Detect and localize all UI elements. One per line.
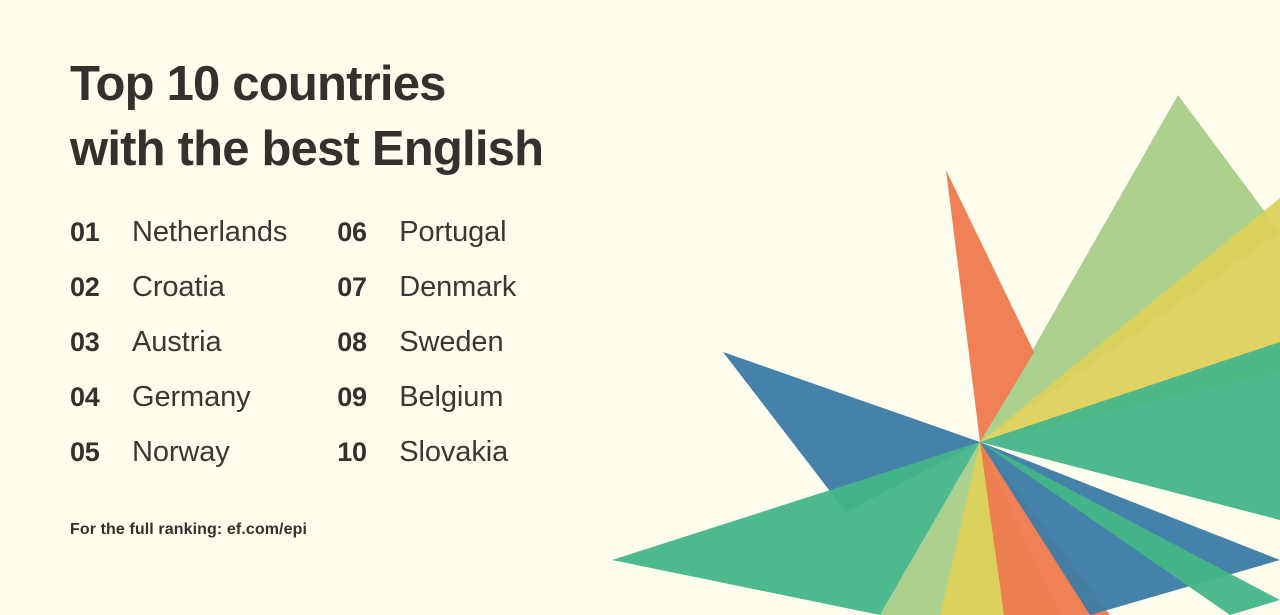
country-name: Norway	[132, 436, 230, 469]
infographic-canvas: Top 10 countries with the best English 0…	[0, 0, 1280, 615]
ranking-row: 05Norway	[70, 436, 287, 491]
rank-number: 10	[337, 437, 399, 468]
country-name: Slovakia	[399, 436, 508, 469]
rank-number: 08	[337, 327, 399, 358]
ranking-row: 07Denmark	[337, 271, 516, 326]
ranking-row: 04Germany	[70, 381, 287, 436]
ranking-row: 08Sweden	[337, 326, 516, 381]
footer-note: For the full ranking: ef.com/epi	[70, 521, 690, 539]
rank-number: 02	[70, 272, 132, 303]
ranking-row: 03Austria	[70, 326, 287, 381]
text-content-block: Top 10 countries with the best English 0…	[70, 52, 690, 539]
country-name: Austria	[132, 326, 222, 359]
country-name: Germany	[132, 381, 251, 414]
rank-number: 05	[70, 437, 132, 468]
ranking-row: 10Slovakia	[337, 436, 516, 491]
ranking-column-right: 06Portugal07Denmark08Sweden09Belgium10Sl…	[337, 216, 516, 491]
ranking-list: 01Netherlands02Croatia03Austria04Germany…	[70, 216, 690, 491]
rank-number: 07	[337, 272, 399, 303]
country-name: Netherlands	[132, 216, 287, 249]
ranking-row: 01Netherlands	[70, 216, 287, 271]
rank-number: 01	[70, 217, 132, 248]
country-name: Denmark	[399, 271, 516, 304]
starburst-ray-group	[612, 95, 1280, 615]
country-name: Belgium	[399, 381, 503, 414]
ranking-column-left: 01Netherlands02Croatia03Austria04Germany…	[70, 216, 287, 491]
rank-number: 03	[70, 327, 132, 358]
country-name: Portugal	[399, 216, 506, 249]
rank-number: 09	[337, 382, 399, 413]
rank-number: 04	[70, 382, 132, 413]
ranking-row: 09Belgium	[337, 381, 516, 436]
page-title: Top 10 countries with the best English	[70, 52, 690, 182]
rank-number: 06	[337, 217, 399, 248]
ranking-row: 06Portugal	[337, 216, 516, 271]
ranking-row: 02Croatia	[70, 271, 287, 326]
country-name: Croatia	[132, 271, 225, 304]
country-name: Sweden	[399, 326, 503, 359]
